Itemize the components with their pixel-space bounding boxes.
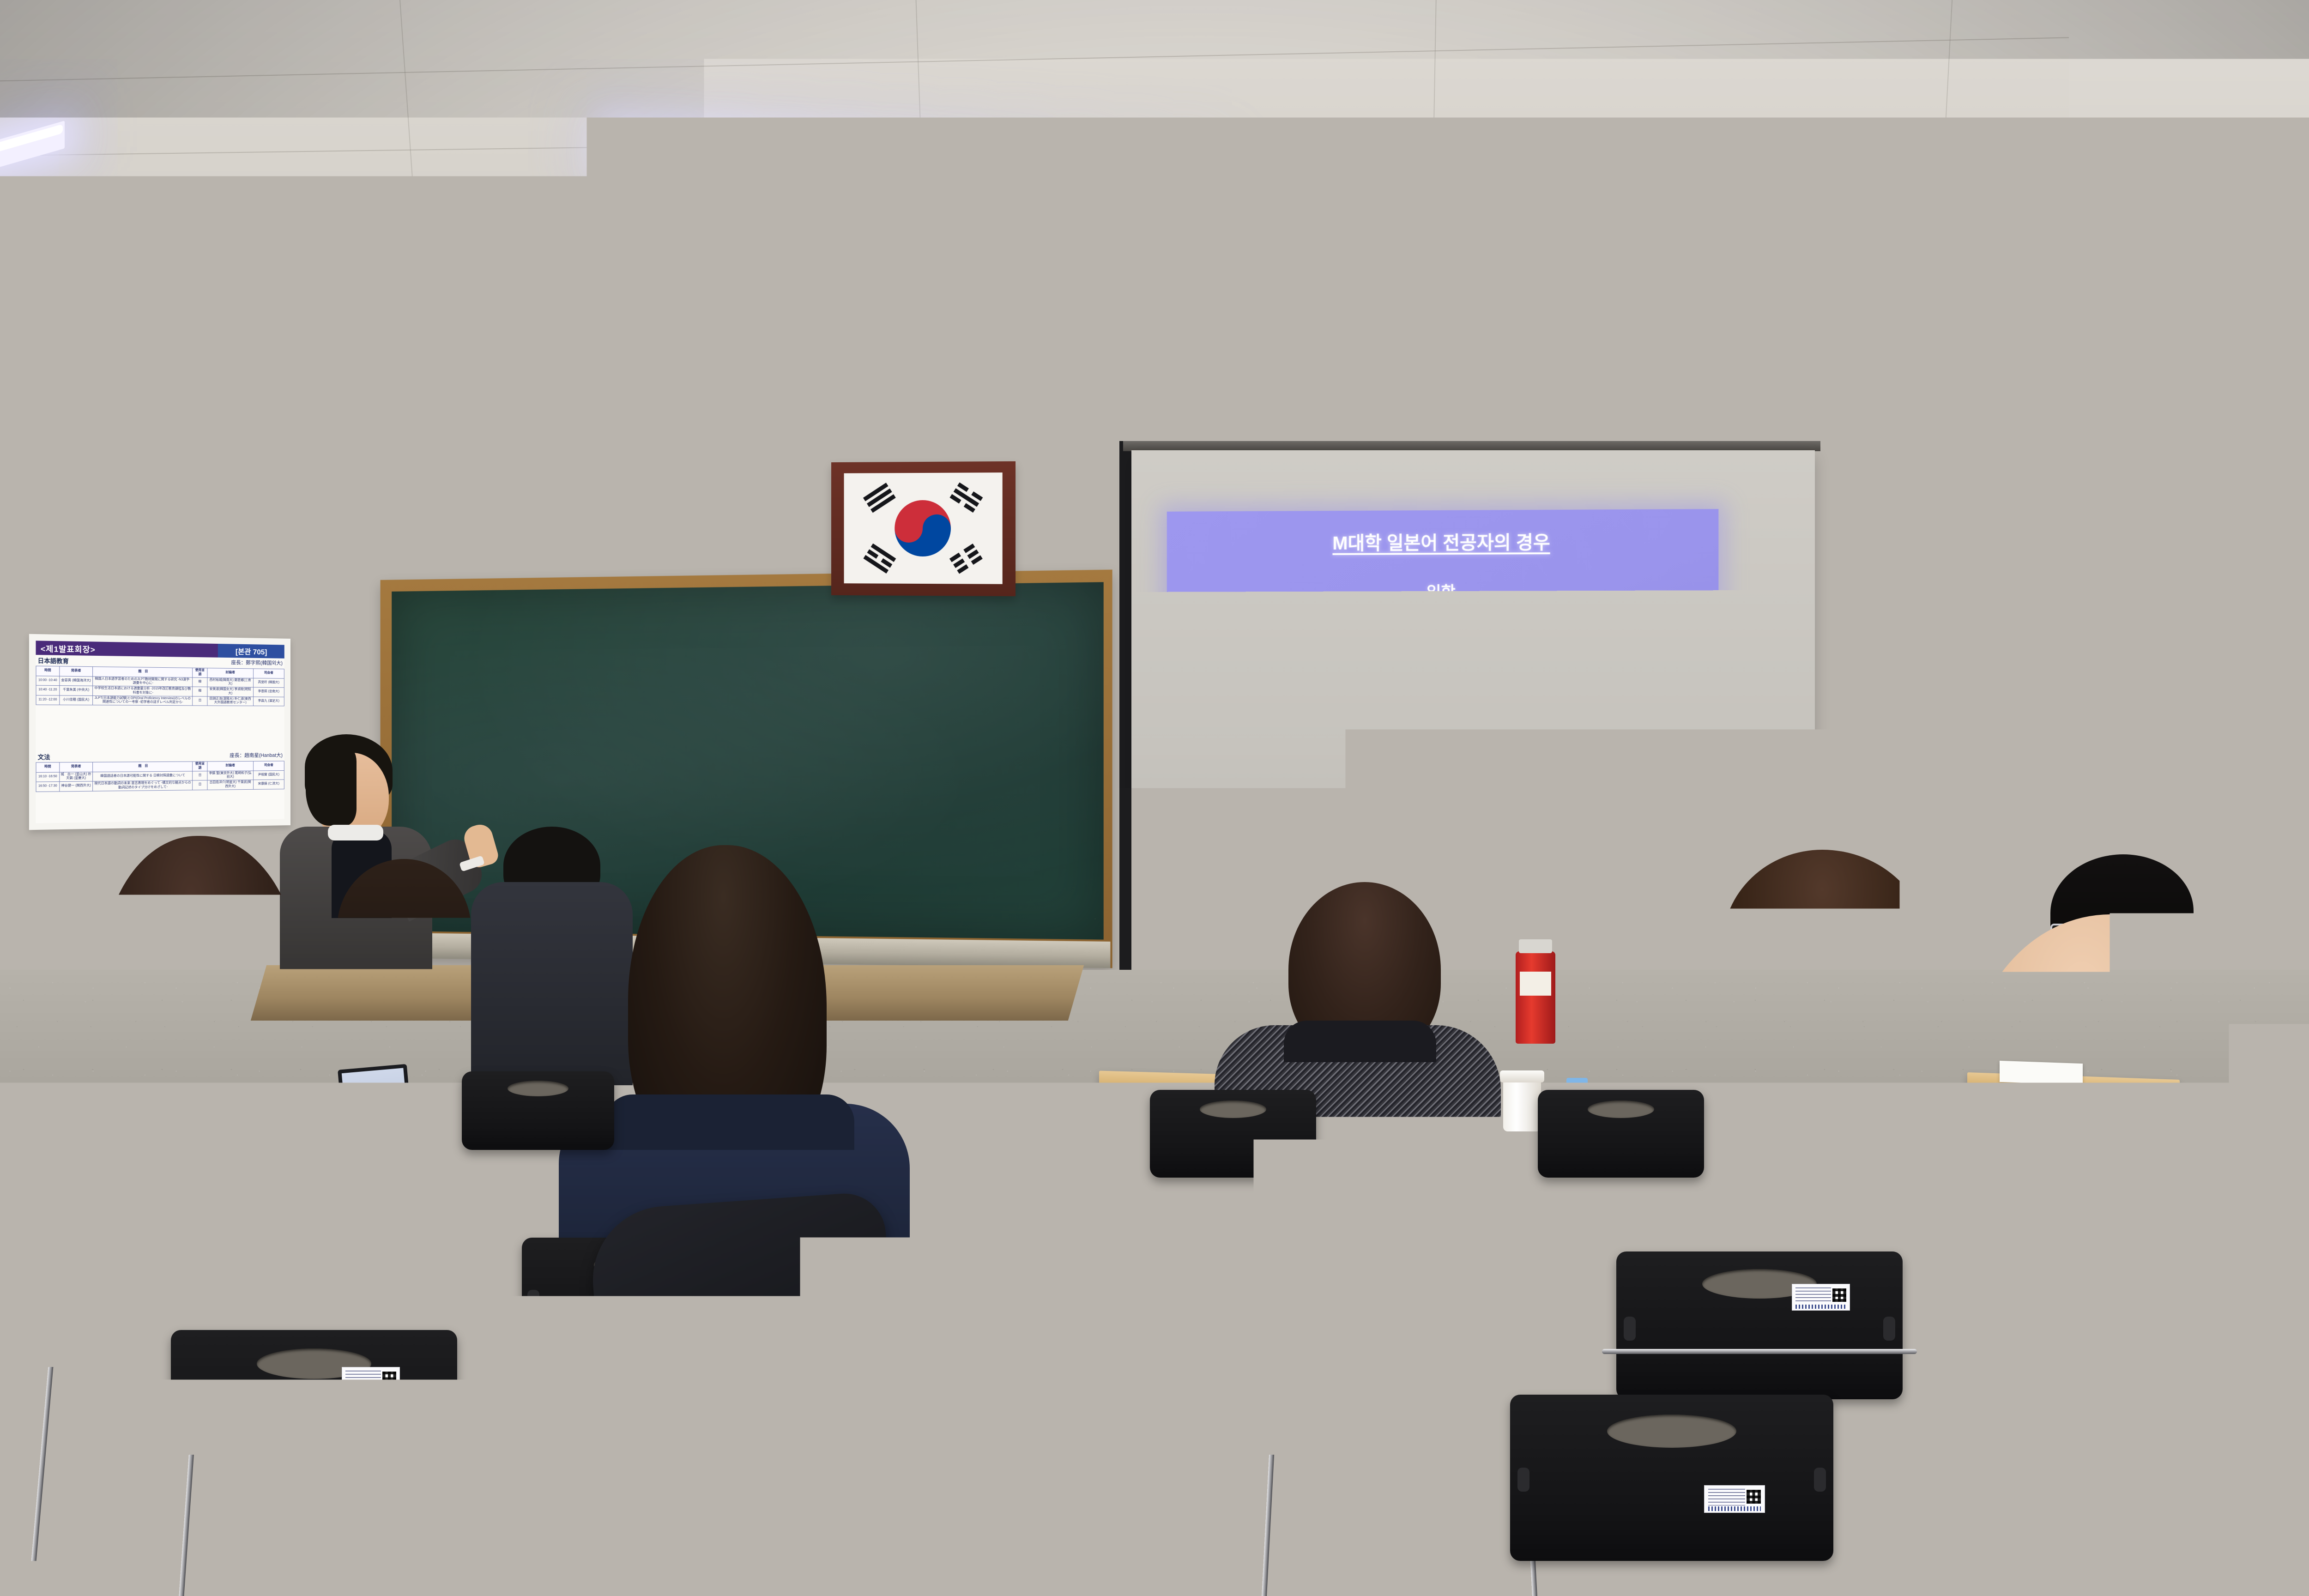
seat-label-line1: 일본어과 <box>149 1335 167 1341</box>
nt-lang: 韓 <box>193 677 207 687</box>
nt-discussant: 古田島洋介(明星大) 千葉武(関西外大) <box>207 780 253 790</box>
notice-table-1: 時間 発表者 題 目 使用言語 討論者 司会者 10:00 -10:40 金容男… <box>36 666 284 707</box>
notice-venue-label: <제1발표회장> <box>36 641 218 657</box>
korean-flag-frame <box>831 461 1015 596</box>
slide-course-col-4: 호텔실무일본어 호텔실무 <box>1574 763 1708 805</box>
chair-far-right[interactable] <box>2018 1076 2175 1159</box>
asset-tag <box>1704 1485 1765 1513</box>
nt-moderator: 李恩熙 (忠南大) <box>253 687 284 697</box>
chair-front-left-2[interactable] <box>171 1330 457 1482</box>
table-row: 11:20 -12:00 小川佳穂 (国民大) JLPT(日本語能力試験)とOP… <box>36 695 284 706</box>
nt-lang: 日 <box>193 771 207 780</box>
chair-mid-left-2[interactable] <box>249 1090 416 1178</box>
nt-time: 16:10 -16:50 <box>36 772 59 782</box>
korean-flag <box>844 472 1003 584</box>
chair-handle-cutout <box>299 1100 366 1118</box>
nt-col-title: 題 目 <box>93 762 193 772</box>
nt-lang: 韓 <box>193 687 207 696</box>
slide-year2-line2: N2JLPT, N1JLPT-전공 <box>1167 737 1719 755</box>
chair-right-3[interactable] <box>1510 1395 1833 1561</box>
slide-title: M대학 일본어 전공자의 경우 <box>1167 526 1719 556</box>
slide-year1-prefix: 1학년(1학기, 2학기)-12월 <box>1322 645 1460 659</box>
slide-year2-prefix: 2학년(1학기, 2학기)-12월 <box>1322 719 1460 732</box>
chair-right-1[interactable] <box>1538 1090 1704 1178</box>
panel-display-icon <box>2307 504 2309 528</box>
chair-right-2[interactable] <box>1616 1251 1903 1399</box>
slide-course-bottom: 사무기초 <box>1177 792 1309 804</box>
chair-handle-cutout <box>2065 1086 2128 1103</box>
seat-label-line2: 13 <box>155 1341 161 1347</box>
nt-presenter: 小川佳穂 (国民大) <box>60 695 93 705</box>
coat-yoke-seam <box>74 1219 314 1222</box>
radiator-vent-icon <box>7 956 86 961</box>
asset-tag <box>342 1367 400 1395</box>
nt-col-title: 題 目 <box>93 667 193 677</box>
presenter-shirt-collar <box>328 825 383 840</box>
trigram-ri-icon <box>863 544 896 574</box>
slide-course-top: 심화비즈니스일본어 <box>1441 763 1574 776</box>
chair-handle-cutout <box>1588 1100 1654 1118</box>
slide-course-bottom: 무역실무 <box>1309 792 1441 805</box>
slide-course-col-3: 심화비즈니스일본어 사무실무 <box>1441 763 1574 805</box>
nt-col-time: 時間 <box>36 762 59 772</box>
slide-year1-jlpt: JLPT N3 이상 취득 <box>1459 645 1560 659</box>
fire-extinguisher <box>1516 951 1555 1044</box>
nt-title: JLPT(日本語能力試験)とOPI(Oral Proficiency Inter… <box>93 695 193 706</box>
wall-radiator-cabinet <box>0 910 143 997</box>
desk-leg <box>1570 1247 1578 1381</box>
chair-handle-cutout <box>1200 1100 1266 1118</box>
ceiling-air-conditioner <box>688 211 1106 373</box>
schedule-notice-poster: <제1발표회장> [본관 705] 日本語教育 座長：鄭字熙(韓国외大) 時間 … <box>29 634 290 830</box>
chair-handle-cutout <box>1607 1415 1736 1448</box>
nt-title: 韓国人日本語学習者のためのJLPT教材開発に関する研究 -N3漢字·語彙を中心に… <box>93 676 193 687</box>
notice-section-chair-1: 座長：鄭字熙(韓国외大) <box>231 659 282 666</box>
audience-suit-foreground <box>1875 1201 2309 1596</box>
nt-time: 16:50 -17:30 <box>36 782 59 792</box>
slide-year2-line1: 2학년(1학기, 2학기)-12월 JLPT N2 이상 취득 <box>1167 715 1719 733</box>
nt-title: 現代日本語の動詞の未来·意志表現をめぐって -構文的な観点からの動詞記述のタイプ… <box>93 780 193 791</box>
nt-col-moderator: 司会者 <box>253 669 284 678</box>
nt-presenter: 千葉朱美 (中央大) <box>60 686 93 695</box>
asset-tag <box>183 1289 238 1315</box>
nt-col-presenter: 発表者 <box>60 762 93 772</box>
nt-col-lang: 使用言語 <box>193 762 207 771</box>
slide-course-top: 유통실무일본어 <box>1309 763 1441 776</box>
nt-time: 10:00 -10:40 <box>36 676 59 685</box>
projector-spec-label <box>1777 169 1811 242</box>
slide-arrow-2: ↓ <box>1167 691 1719 706</box>
audience-dark-torso <box>2244 1145 2309 1385</box>
nt-time: 11:20 -12:00 <box>36 695 59 705</box>
chair-center-1[interactable] <box>1150 1090 1316 1178</box>
nt-discussant: 田淵正浩(漢陽大) 朴仁淑(東西大外国語教育センター) <box>207 696 253 706</box>
nt-title: 韓国語話者の日本語可能性に関する 日韓対照語彙について <box>93 771 193 781</box>
nt-lang: 日 <box>193 780 207 790</box>
screen-top-rail <box>1123 441 1820 451</box>
nt-presenter: 金容男 (韓国海洋大) <box>60 676 93 686</box>
nt-col-time: 時間 <box>36 666 59 676</box>
nt-col-discussant: 討論者 <box>207 668 253 678</box>
nt-discussant: 西村裕城(韓南大) 鄭恵鄉(三育大) <box>207 677 253 687</box>
slide-course-bottom: 사무실무 <box>1441 792 1574 805</box>
nt-title: 中学校生活日本語における語彙量分析 -2015年改訂教育課程及び教科書を対象に- <box>93 686 193 696</box>
trigram-gon-icon <box>949 544 983 574</box>
desk-leg <box>1126 1108 1134 1321</box>
nt-moderator: 李昌九 (濯足大) <box>253 696 284 706</box>
audience-right-edge <box>2244 1145 2309 1385</box>
nt-moderator: 高旻旴 (韓国大) <box>253 678 284 688</box>
puffer-quilt-seam <box>314 1062 490 1064</box>
black-coat-draped <box>588 1191 908 1576</box>
screen-post-left <box>1119 441 1131 991</box>
radiator-vent-icon <box>7 944 104 949</box>
chair-center-2[interactable] <box>1284 1219 1524 1335</box>
door-transom-window <box>2173 483 2309 623</box>
wall-control-panel[interactable] <box>2300 494 2309 602</box>
coat-button-icon <box>170 1201 187 1217</box>
chair-handle-cutout <box>1340 1339 1458 1370</box>
chair-handle-cutout <box>1356 1233 1452 1256</box>
slide-course-col-1: 기초비즈니스일본어 사무기초 <box>1177 763 1309 805</box>
slide-course-top: 기초비즈니스일본어 <box>1177 763 1309 776</box>
slide-course-top: 호텔실무일본어 <box>1574 763 1708 776</box>
epson-projector: EPSON <box>1801 158 2084 267</box>
taeguk-circle-icon <box>895 500 951 556</box>
nt-presenter: 神谷健一 (関西外大) <box>60 781 93 792</box>
wall-equipment-box <box>2297 610 2309 704</box>
nt-discussant: 李鎬 聖(東京外大) 尾崎和子(弘前大) <box>207 771 253 780</box>
slide-arrow-1: ↓ <box>1167 607 1719 623</box>
trigram-geon-icon <box>863 483 896 513</box>
projector-brand-label: EPSON <box>1963 175 2063 211</box>
coat-collar <box>605 1094 854 1150</box>
nt-col-presenter: 発表者 <box>60 666 93 677</box>
nt-presenter: 城 白一 (釜山大) 朴天鎬 (釜慶大) <box>60 772 93 781</box>
slide-course-bottom: 호텔실무 <box>1574 792 1708 805</box>
nt-col-discussant: 討論者 <box>207 761 253 771</box>
audience-bald-man-foreground <box>1875 914 2309 1596</box>
notice-header: <제1발표회장> [본관 705] <box>36 641 284 658</box>
notice-table-2: 時間 発表者 題 目 使用言語 討論者 司会者 16:10 -16:50 城 白… <box>36 761 284 792</box>
coat-collar <box>1284 1021 1436 1062</box>
slide-year1-line2: 일본어문법, 일본어강독1/2, N3JLPT-전공 <box>1167 663 1719 681</box>
slide-course-col-2: 유통실무일본어 무역실무 <box>1309 763 1441 805</box>
projector-lens-icon <box>1917 215 1949 229</box>
right-upper-wall <box>2069 0 2309 462</box>
coffee-cup-right[interactable] <box>1503 1076 1541 1131</box>
slide-course-grid: 기초비즈니스일본어 사무기초 유통실무일본어 무역실무 심화비즈니스일본어 사무… <box>1177 763 1709 805</box>
asset-tag <box>1792 1284 1850 1311</box>
trigram-gam-icon <box>949 482 983 513</box>
slide-year2-jlpt: JLPT N2 이상 취득 <box>1459 719 1560 732</box>
nt-discussant: 安美淑(韓国女大) 李貞旼(明知大) <box>207 687 253 696</box>
slide-arrow-3: ↓ <box>1167 838 1719 853</box>
slide-step-entry: 입학 <box>1167 579 1719 603</box>
nt-time: 10:40 -11:20 <box>36 685 59 695</box>
notice-room-label: [본관 705] <box>218 644 284 659</box>
nt-lang: 日 <box>193 696 207 706</box>
slide-year1-line1: 1학년(1학기, 2학기)-12월 JLPT N3 이상 취득 <box>1167 641 1719 660</box>
puffer-quilt-seam <box>314 1016 490 1018</box>
table-row: 16:50 -17:30 神谷健一 (関西外大) 現代日本語の動詞の未来·意志表… <box>36 780 284 792</box>
asset-tag <box>1424 1409 1484 1436</box>
chair-mid-left-3[interactable] <box>462 1071 614 1150</box>
chair-center-3[interactable] <box>1251 1321 1547 1473</box>
slide-step-graduation: 졸업 <box>1167 860 1719 885</box>
classroom-photo: EPSON <box>0 0 2309 1596</box>
nt-col-lang: 使用言語 <box>193 668 207 677</box>
notice-section-chair-2: 座長：趙南星(Hanbat大) <box>230 751 283 759</box>
